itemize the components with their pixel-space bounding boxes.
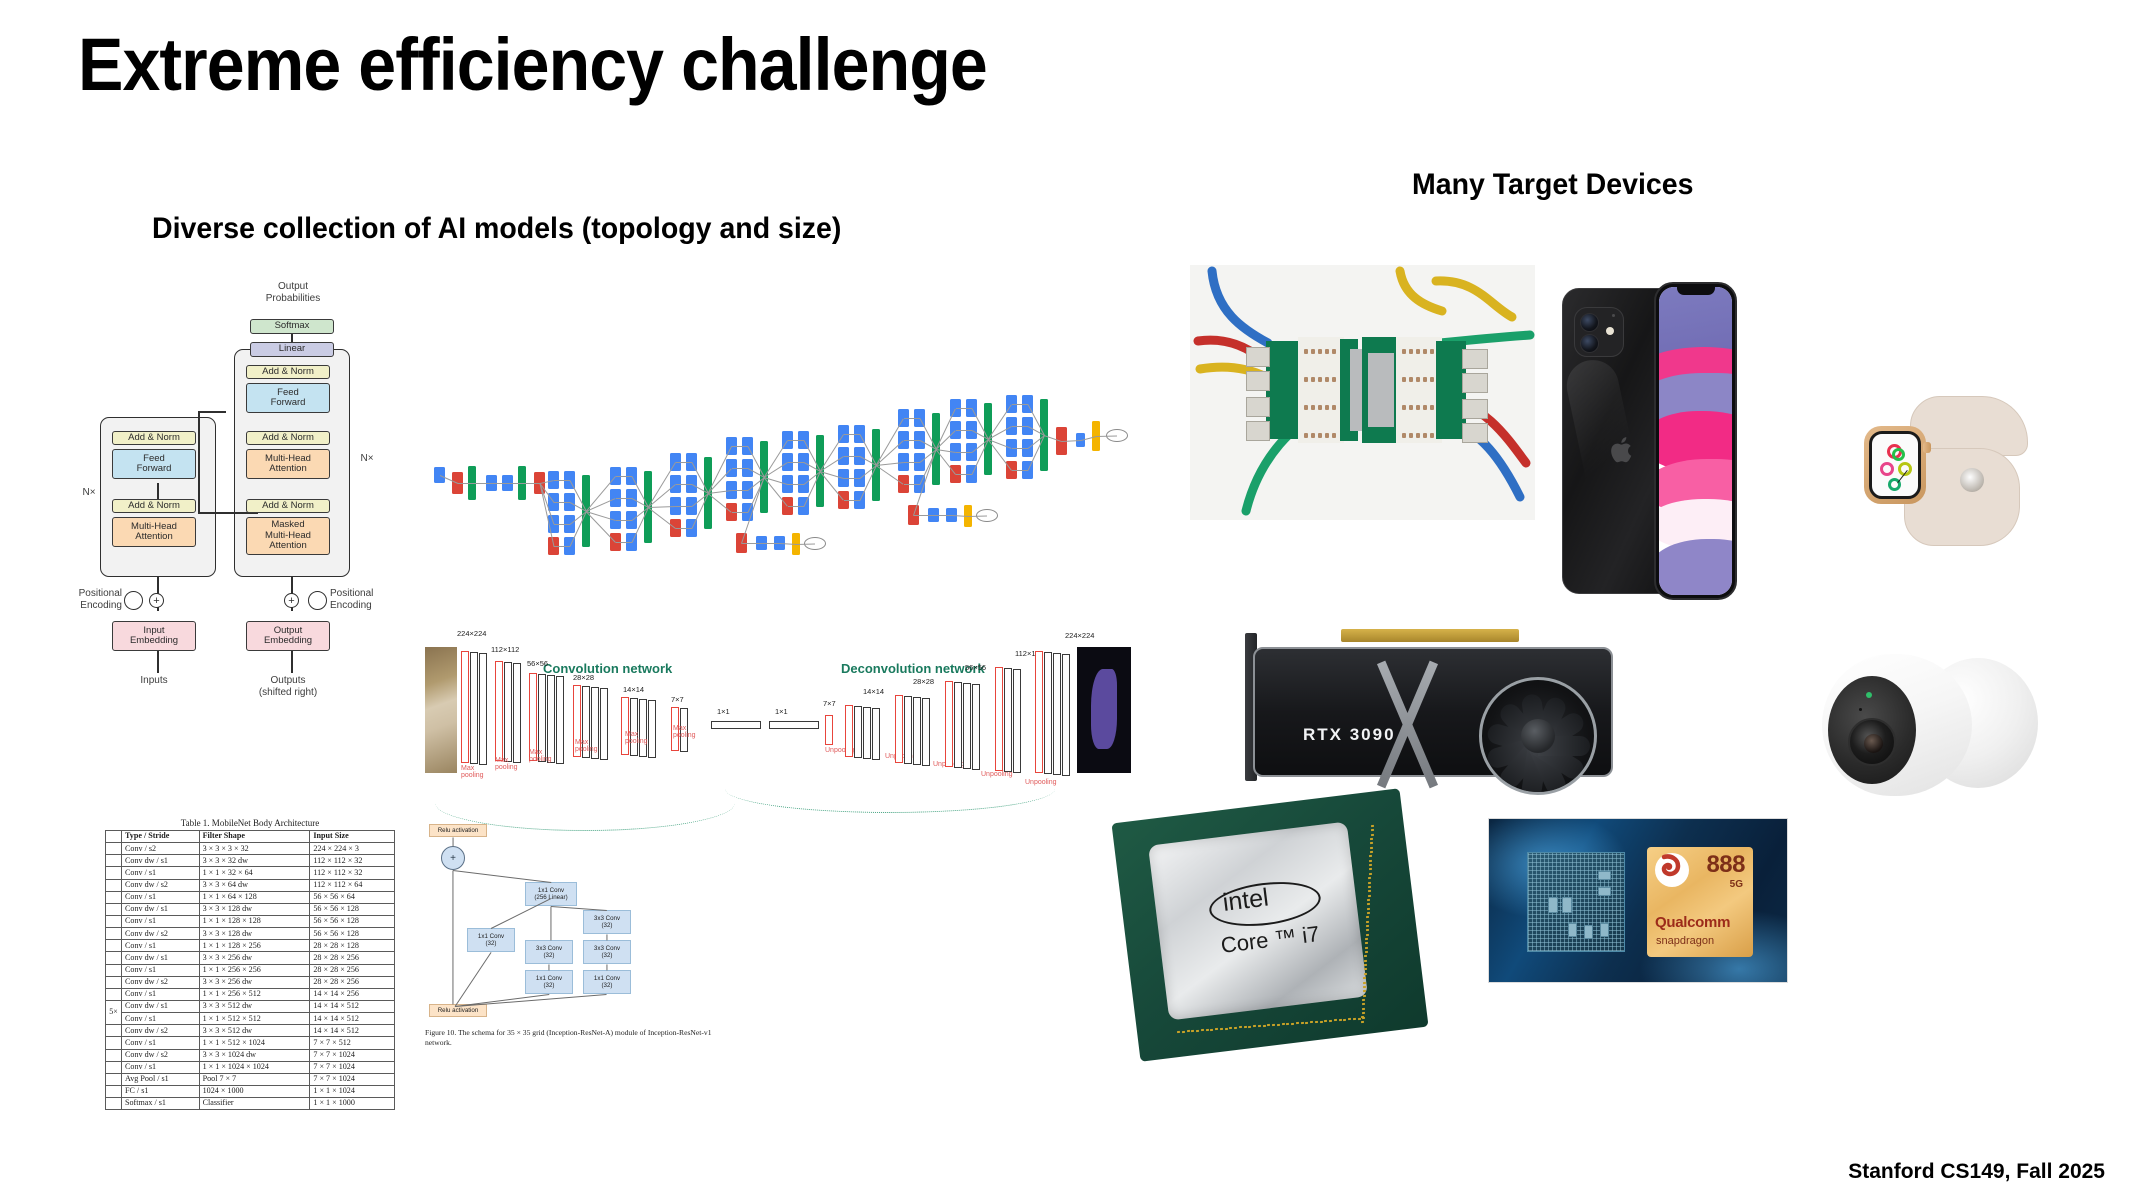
- cpu-pin: [1365, 947, 1368, 949]
- iphone-gloss: [1562, 355, 1644, 513]
- cpu-pin: [1243, 1026, 1246, 1028]
- table-row: Conv dw / s13 × 3 × 256 dw28 × 28 × 256: [106, 952, 395, 964]
- connector-pin: [1423, 349, 1427, 354]
- table-row: Conv / s11 × 1 × 256 × 51214 × 14 × 256: [106, 988, 395, 1000]
- cell-2: 14 × 14 × 512: [310, 1025, 395, 1037]
- layer-slab: [922, 698, 930, 766]
- cpu-pin: [1224, 1027, 1227, 1029]
- cell-0: Conv / s1: [122, 1061, 200, 1073]
- table-row: Conv / s11 × 1 × 512 × 51214 × 14 × 512: [106, 1013, 395, 1025]
- cpu-pin: [1286, 1023, 1289, 1025]
- connector-pin: [1318, 377, 1322, 382]
- graph-edge: [762, 543, 780, 544]
- encoder-add-norm-2: Add & Norm: [112, 431, 196, 445]
- connector-pin: [1430, 405, 1434, 410]
- decoder-add-norm-2: Add & Norm: [246, 431, 330, 445]
- cpu-pin: [1363, 986, 1366, 988]
- output-probabilities-label: Output Probabilities: [246, 281, 340, 304]
- cell-2: 28 × 28 × 256: [310, 952, 395, 964]
- cell-2: 224 × 224 × 3: [310, 843, 395, 855]
- cell-0: Conv / s2: [122, 843, 200, 855]
- cpu-pin: [1365, 934, 1368, 936]
- cell-0: Conv dw / s1: [122, 952, 200, 964]
- graph-edge: [844, 478, 860, 479]
- connector-pin: [1325, 377, 1329, 382]
- figure-caption: Figure 10. The schema for 35 × 35 grid (…: [425, 1028, 713, 1048]
- iphone-camera-module: [1574, 307, 1624, 357]
- graph-edge: [788, 506, 804, 507]
- column-header-1: Filter Shape: [199, 831, 310, 843]
- encoder-decoder-link-h: [198, 411, 226, 413]
- output-embedding-box: Output Embedding: [246, 621, 330, 651]
- connector-pin: [1318, 405, 1322, 410]
- cpu-pin: [1248, 1026, 1251, 1028]
- cpu-pin: [1305, 1021, 1308, 1023]
- module-edge: [551, 906, 552, 940]
- cpu-pin: [1366, 920, 1369, 922]
- die-pad: [1600, 923, 1609, 937]
- cell-0: Conv dw / s1: [122, 855, 200, 867]
- connector-pin: [1402, 405, 1406, 410]
- camera-lens-icon: [1580, 334, 1599, 353]
- intel-cpu-photo: intel Core ™ i7: [1125, 805, 1435, 1060]
- linear-box: Linear: [250, 342, 334, 357]
- layer-slab: [470, 652, 478, 764]
- watch-digital-crown[interactable]: [1923, 442, 1931, 453]
- snapdragon-photo: 888 5G Qualcomm snapdragon: [1488, 818, 1788, 983]
- cell-1: 1024 × 1000: [199, 1085, 310, 1097]
- graph-edge: [956, 408, 972, 409]
- repeat-spacer: [106, 1073, 122, 1085]
- table-row: Softmax / s1Classifier1 × 1 × 1000: [106, 1098, 395, 1110]
- cell-0: Softmax / s1: [122, 1098, 200, 1110]
- cpu-pin: [1177, 1031, 1180, 1033]
- graph-edge: [1012, 448, 1028, 449]
- graph-edge: [616, 498, 632, 499]
- cell-2: 112 × 112 × 64: [310, 879, 395, 891]
- watch-screen[interactable]: [1869, 431, 1921, 499]
- graph-edge: [554, 524, 570, 525]
- connector-pin: [1304, 405, 1308, 410]
- iphone-screen[interactable]: [1659, 287, 1732, 595]
- encoder-feed-forward: Feed Forward: [112, 449, 196, 479]
- conv-1x1-32-left: 1x1 Conv (32): [467, 928, 515, 952]
- cpu-pin: [1367, 907, 1370, 909]
- nest-cam-photo: [1800, 650, 2065, 815]
- layer-slab: [845, 705, 853, 757]
- connector-pin: [1409, 405, 1413, 410]
- cpu-pin: [1258, 1025, 1261, 1027]
- cell-2: 7 × 7 × 1024: [310, 1073, 395, 1085]
- connector-pin: [1318, 433, 1322, 438]
- layer-slab: [825, 715, 833, 745]
- graph-edge: [788, 484, 804, 485]
- graph-edge: [904, 462, 920, 463]
- layer-slab: [1035, 651, 1043, 773]
- conv-1x1-32-right: 1x1 Conv (32): [583, 970, 631, 994]
- connector-pin: [1332, 377, 1336, 382]
- graph-edge: [732, 446, 748, 447]
- connector-pin: [1332, 405, 1336, 410]
- table-row: Conv dw / s13 × 3 × 32 dw112 × 112 × 32: [106, 855, 395, 867]
- layer-dimension-label: 1×1: [717, 707, 730, 716]
- activity-ring-pink: [1880, 462, 1894, 476]
- layer-slab: [863, 707, 871, 759]
- cpu-pin: [1370, 834, 1373, 836]
- cell-1: 1 × 1 × 256 × 256: [199, 964, 310, 976]
- repeat-spacer: [106, 1098, 122, 1110]
- connector-pin: [1325, 349, 1329, 354]
- layer-dimension-label: 1×1: [775, 707, 788, 716]
- board-port: [1462, 399, 1488, 419]
- board-port: [1462, 423, 1488, 443]
- output-segmentation-thumb: [1077, 647, 1131, 773]
- module-edge: [607, 964, 608, 970]
- connector-pin: [1402, 433, 1406, 438]
- connector-pin: [1430, 433, 1434, 438]
- transformer-architecture-diagram: Output Probabilities Softmax Linear Add …: [78, 305, 418, 775]
- cell-0: Conv / s1: [122, 988, 200, 1000]
- iphone-front: [1654, 282, 1737, 600]
- graph-edge: [458, 483, 473, 484]
- nest-cam-face: [1828, 676, 1916, 784]
- cell-1: 3 × 3 × 256 dw: [199, 952, 310, 964]
- table-row: Conv / s11 × 1 × 1024 × 10247 × 7 × 1024: [106, 1061, 395, 1073]
- gpu-fan: [1479, 677, 1597, 795]
- layer-dimension-label: 56×56: [527, 659, 548, 668]
- graph-edge: [904, 440, 920, 441]
- table-row: Conv dw / s13 × 3 × 128 dw56 × 56 × 128: [106, 903, 395, 915]
- connector-pin: [1311, 405, 1315, 410]
- connector-pin: [1409, 433, 1413, 438]
- connector-pin: [1304, 349, 1308, 354]
- module-edge: [551, 906, 607, 911]
- table-row: Conv dw / s23 × 3 × 512 dw14 × 14 × 512: [106, 1025, 395, 1037]
- cpu-pin: [1362, 1012, 1365, 1014]
- mobilenet-table: Type / StrideFilter ShapeInput Size Conv…: [105, 830, 395, 1110]
- cell-0: Conv / s1: [122, 964, 200, 976]
- cell-1: 1 × 1 × 128 × 128: [199, 915, 310, 927]
- board-port: [1246, 347, 1270, 367]
- cpu-pin: [1368, 881, 1371, 883]
- cpu-pin: [1196, 1029, 1199, 1031]
- graph-edge: [616, 542, 632, 543]
- chip-number: 888: [1706, 853, 1745, 877]
- cell-2: 112 × 112 × 32: [310, 855, 395, 867]
- cell-0: Conv dw / s2: [122, 879, 200, 891]
- cell-2: 7 × 7 × 1024: [310, 1061, 395, 1073]
- die-pad: [1598, 887, 1611, 896]
- die-pad: [1562, 897, 1572, 913]
- slide-footer: Stanford CS149, Fall 2025: [1848, 1160, 2105, 1184]
- graph-edge: [956, 430, 972, 431]
- graph-edge: [522, 483, 540, 484]
- table-row: Avg Pool / s1Pool 7 × 77 × 7 × 1024: [106, 1073, 395, 1085]
- connector-pin: [1416, 405, 1420, 410]
- connector-pin: [1416, 349, 1420, 354]
- repeat-spacer: [106, 1085, 122, 1097]
- camera-lens-inner: [1864, 734, 1883, 753]
- cpu-pin: [1319, 1020, 1322, 1022]
- table-caption: Table 1. MobileNet Body Architecture: [105, 818, 395, 828]
- layer-slab: [495, 661, 503, 761]
- graph-edge: [1012, 404, 1028, 405]
- module-edge: [491, 898, 551, 929]
- cell-0: Conv / s1: [122, 1013, 200, 1025]
- repeat-spacer: [106, 1049, 122, 1061]
- cpu-pin: [1272, 1024, 1275, 1026]
- cell-0: Conv dw / s1: [122, 903, 200, 915]
- column-header-0: Type / Stride: [122, 831, 200, 843]
- repeat-spacer: [106, 843, 122, 855]
- tpu-board-photo: [1190, 265, 1535, 520]
- connector-pin: [1304, 377, 1308, 382]
- cell-0: Conv dw / s2: [122, 1025, 200, 1037]
- cpu-pin: [1191, 1030, 1194, 1032]
- camera-lens-icon: [1580, 313, 1599, 332]
- cpu-pin: [1205, 1029, 1208, 1031]
- table-row: Conv dw / s23 × 3 × 64 dw112 × 112 × 64: [106, 879, 395, 891]
- repeat-spacer: [106, 915, 122, 927]
- repeat-column-header: [106, 831, 122, 843]
- connector-pin: [1402, 349, 1406, 354]
- positional-encoding-label-right: Positional Encoding: [330, 588, 402, 611]
- layer-dimension-label: 112×112: [491, 645, 519, 654]
- column-header-2: Input Size: [310, 831, 395, 843]
- graph-edge: [554, 480, 570, 481]
- cell-1: 1 × 1 × 128 × 256: [199, 940, 310, 952]
- input-line: [157, 651, 159, 673]
- cpu-pin: [1300, 1022, 1303, 1024]
- cell-0: Conv / s1: [122, 1037, 200, 1049]
- graph-edge: [844, 500, 860, 501]
- cpu-pin: [1369, 860, 1372, 862]
- layer-dimension-label: 56×56: [965, 663, 986, 672]
- snapdragon-logo-icon: [1655, 853, 1689, 887]
- encoder-decoder-link-v: [198, 411, 200, 513]
- apple-watch-photo: [1852, 390, 2042, 570]
- table-row: Conv / s11 × 1 × 128 × 25628 × 28 × 128: [106, 940, 395, 952]
- cell-2: 1 × 1 × 1000: [310, 1098, 395, 1110]
- output-line: [291, 651, 293, 673]
- graph-edge: [788, 462, 804, 463]
- masked-multi-head-attention: Masked Multi-Head Attention: [246, 517, 330, 555]
- layer-slab: [479, 653, 487, 765]
- decoder-sum-symbol: +: [284, 596, 299, 607]
- connector-pin: [1311, 349, 1315, 354]
- repeat-spacer: [106, 891, 122, 903]
- snapdragon-chip-graphic: 888 5G Qualcomm snapdragon: [1647, 847, 1753, 957]
- cell-1: 1 × 1 × 32 × 64: [199, 867, 310, 879]
- layer-slab: [529, 673, 537, 761]
- cell-2: 28 × 28 × 256: [310, 964, 395, 976]
- cell-2: 112 × 112 × 32: [310, 867, 395, 879]
- input-embedding-box: Input Embedding: [112, 621, 196, 651]
- cell-0: Conv / s1: [122, 867, 200, 879]
- cell-0: Conv dw / s2: [122, 928, 200, 940]
- cell-1: 3 × 3 × 512 dw: [199, 1000, 310, 1012]
- repeat-spacer: [106, 879, 122, 891]
- layer-slab: [600, 688, 608, 760]
- convolution-network-label: Convolution network: [543, 661, 672, 676]
- decoder-nx-label: N×: [358, 453, 376, 465]
- table-row: Conv / s11 × 1 × 64 × 12856 × 56 × 64: [106, 891, 395, 903]
- module-edge: [607, 934, 608, 940]
- repeat-marker: 5×: [106, 1000, 122, 1024]
- inputs-label: Inputs: [112, 675, 196, 687]
- positional-encoding-wave-left: [124, 591, 143, 610]
- graph-edge: [788, 440, 804, 441]
- die-pad: [1548, 897, 1558, 913]
- cell-2: 28 × 28 × 128: [310, 940, 395, 952]
- pooling-label: Max pooling: [495, 757, 518, 772]
- graph-edge: [844, 456, 860, 457]
- connector-pin: [1409, 349, 1413, 354]
- layer-slab: [1053, 653, 1061, 775]
- pooling-label: Max pooling: [625, 731, 648, 746]
- layer-slab: [556, 676, 564, 764]
- layer-dimension-label: 7×7: [823, 699, 836, 708]
- cpu-pin: [1353, 1018, 1356, 1020]
- repeat-spacer: [106, 1061, 122, 1073]
- connector-pin: [1311, 377, 1315, 382]
- layer-dimension-label: 14×14: [623, 685, 644, 694]
- layer-slab: [963, 683, 971, 769]
- connector-pin: [1332, 349, 1336, 354]
- connector-pin: [1430, 349, 1434, 354]
- repeat-spacer: [106, 988, 122, 1000]
- cell-1: 3 × 3 × 128 dw: [199, 928, 310, 940]
- graph-edge: [554, 546, 570, 547]
- section-heading-devices: Many Target Devices: [1412, 168, 1693, 202]
- graph-edge: [732, 490, 748, 491]
- module-edge: [453, 870, 454, 1004]
- cell-1: Pool 7 × 7: [199, 1073, 310, 1085]
- repeat-spacer: [106, 1037, 122, 1049]
- repeat-spacer: [106, 928, 122, 940]
- layer-slab: [995, 667, 1003, 771]
- activity-ring-green: [1892, 448, 1905, 461]
- iphone-notch: [1677, 284, 1715, 295]
- connector-pin: [1325, 433, 1329, 438]
- cell-2: 56 × 56 × 128: [310, 928, 395, 940]
- encoder-nx-label: N×: [80, 487, 98, 499]
- cell-1: 1 × 1 × 64 × 128: [199, 891, 310, 903]
- graph-edge: [616, 476, 632, 477]
- table-row: Conv dw / s23 × 3 × 128 dw56 × 56 × 128: [106, 928, 395, 940]
- inception-resnet-a-module: Relu activation + 1x1 Conv (256 Linear) …: [425, 820, 715, 1065]
- table-header-row: Type / StrideFilter ShapeInput Size: [106, 831, 395, 843]
- graph-edge: [844, 434, 860, 435]
- conv-3x3-32-right-bottom: 3x3 Conv (32): [583, 940, 631, 964]
- gpu-model-label: RTX 3090: [1303, 725, 1396, 745]
- layer-slab: [1004, 668, 1012, 772]
- layer-slab: [1013, 669, 1021, 773]
- watch-band-clasp: [1960, 468, 1984, 492]
- memory-module: [1368, 353, 1394, 427]
- cell-0: Conv dw / s2: [122, 1049, 200, 1061]
- cell-0: Avg Pool / s1: [122, 1073, 200, 1085]
- board-port: [1246, 371, 1270, 391]
- cell-0: Conv dw / s1: [122, 1000, 200, 1012]
- positional-encoding-wave-right: [308, 591, 327, 610]
- cell-2: 7 × 7 × 512: [310, 1037, 395, 1049]
- cpu-pin: [1368, 873, 1371, 875]
- graph-edge: [742, 543, 762, 544]
- graph-edge: [732, 468, 748, 469]
- cpu-pin: [1262, 1025, 1265, 1027]
- fc-layer: [711, 721, 761, 729]
- softmax-box: Softmax: [250, 319, 334, 334]
- cell-0: FC / s1: [122, 1085, 200, 1097]
- layer-dimension-label: 28×28: [573, 673, 594, 682]
- layer-dimension-label: 28×28: [913, 677, 934, 686]
- repeat-spacer: [106, 1025, 122, 1037]
- cpu-pin: [1364, 960, 1367, 962]
- cell-0: Conv / s1: [122, 915, 200, 927]
- cpu-pin: [1291, 1022, 1294, 1024]
- table-body: Conv / s23 × 3 × 3 × 32224 × 224 × 3Conv…: [106, 843, 395, 1110]
- googlenet-inception-graph: [430, 375, 1120, 565]
- cell-1: 3 × 3 × 512 dw: [199, 1025, 310, 1037]
- layer-slab: [630, 698, 638, 756]
- connector-pin: [1332, 433, 1336, 438]
- layer-slab: [913, 697, 921, 765]
- connector-pin: [1409, 377, 1413, 382]
- connector-pin: [1325, 405, 1329, 410]
- cell-0: Conv / s1: [122, 891, 200, 903]
- cpu-pin: [1363, 981, 1366, 983]
- layer-dimension-label: 224×224: [457, 629, 486, 638]
- repeat-spacer: [106, 952, 122, 964]
- cell-2: 56 × 56 × 64: [310, 891, 395, 903]
- repeat-spacer: [106, 940, 122, 952]
- layer-slab: [872, 708, 880, 760]
- input-image-thumb: [425, 647, 457, 773]
- graph-edge: [472, 483, 492, 484]
- cpu-pin: [1357, 1018, 1360, 1020]
- board-port: [1246, 397, 1270, 417]
- cpu-pin: [1366, 925, 1369, 927]
- cell-1: 3 × 3 × 32 dw: [199, 855, 310, 867]
- connector-pin: [1416, 433, 1420, 438]
- gpu-fan-hub: [1521, 719, 1555, 753]
- cell-1: 3 × 3 × 64 dw: [199, 879, 310, 891]
- connector-pin: [1423, 377, 1427, 382]
- layer-dimension-label: 224×224: [1065, 631, 1094, 640]
- graph-edge: [676, 462, 692, 463]
- convolution-deconvolution-network: Convolution network Deconvolution networ…: [425, 625, 1135, 810]
- layer-slab: [639, 699, 647, 757]
- cpu-pin: [1362, 1007, 1365, 1009]
- intel-brand-text: intel: [1221, 884, 1270, 918]
- snapdragon-product: snapdragon: [1656, 935, 1714, 947]
- iphone-photo: [1562, 282, 1737, 600]
- status-led-icon: [1866, 692, 1872, 698]
- connector-pin: [1423, 405, 1427, 410]
- board-port: [1462, 373, 1488, 393]
- graph-edge: [956, 474, 972, 475]
- cpu-pin: [1370, 847, 1373, 849]
- table-row: Conv / s11 × 1 × 512 × 10247 × 7 × 512: [106, 1037, 395, 1049]
- table-row: FC / s11024 × 10001 × 1 × 1024: [106, 1085, 395, 1097]
- camera-mic-icon: [1612, 314, 1615, 317]
- cpu-pin: [1277, 1023, 1280, 1025]
- layer-dimension-label: 7×7: [671, 695, 684, 704]
- connector-pin: [1416, 377, 1420, 382]
- table-row: Conv dw / s23 × 3 × 1024 dw7 × 7 × 1024: [106, 1049, 395, 1061]
- cell-2: 28 × 28 × 256: [310, 976, 395, 988]
